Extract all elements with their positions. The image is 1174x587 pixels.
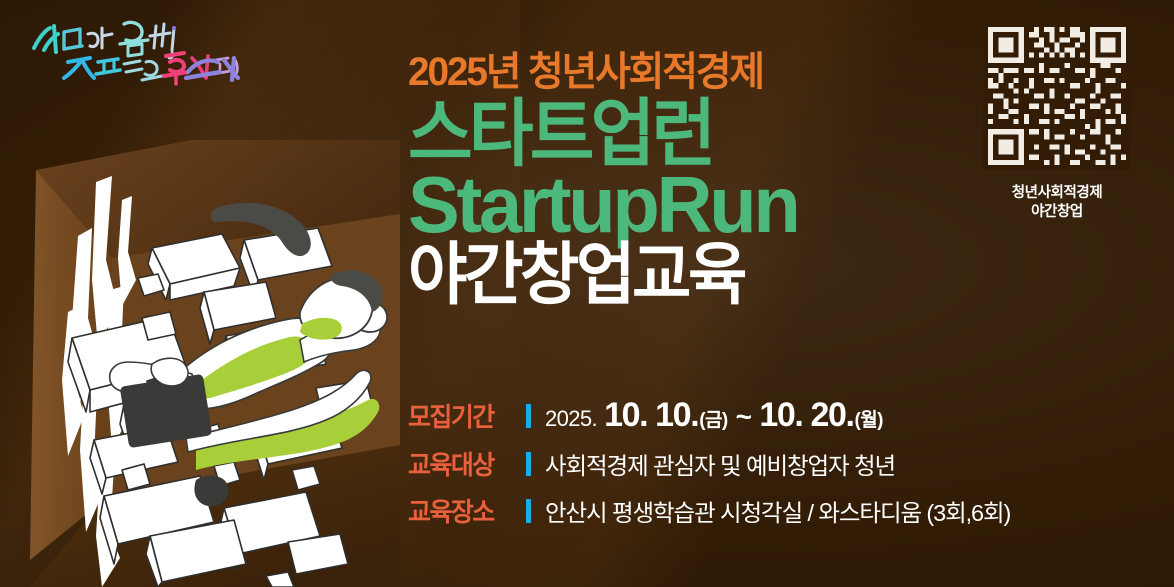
ansan-city-logo <box>24 12 244 92</box>
info-value-dates: 2025. 10. 10. (금) ~ 10. 20. (월) <box>545 396 1148 435</box>
headline-block: 2025년 청년사회적경제 스타트업런 StartupRun 야간창업교육 <box>408 52 1038 309</box>
headline-subtitle-korean: 야간창업교육 <box>408 241 1007 309</box>
info-value: 안산시 평생학습관 시청각실 / 와스타디움 (3회,6회) <box>545 494 1148 528</box>
info-value: 사회적경제 관심자 및 예비창업자 청년 <box>545 447 1148 481</box>
date-start: 10. 10. <box>604 396 698 435</box>
headline-title-english: StartupRun <box>408 165 1019 245</box>
info-label: 교육대상 <box>408 445 519 482</box>
info-separator-bar <box>526 404 531 428</box>
headline-kicker: 2025년 청년사회적경제 <box>408 52 1019 92</box>
info-row-recruitment-period: 모집기간 2025. 10. 10. (금) ~ 10. 20. (월) <box>408 396 1148 435</box>
info-row-target-audience: 교육대상 사회적경제 관심자 및 예비창업자 청년 <box>408 445 1148 482</box>
date-end-weekday: (월) <box>855 405 883 432</box>
date-start-weekday: (금) <box>699 405 727 432</box>
date-range-tilde: ~ <box>736 401 752 433</box>
info-list: 모집기간 2025. 10. 10. (금) ~ 10. 20. (월) 교육대… <box>408 396 1148 529</box>
info-separator-bar <box>526 499 531 523</box>
info-label: 교육장소 <box>408 492 519 529</box>
promo-banner: 청년사회적경제 야간창업 2025년 청년사회적경제 스타트업런 Startup… <box>0 0 1174 587</box>
info-row-venue: 교육장소 안산시 평생학습관 시청각실 / 와스타디움 (3회,6회) <box>408 492 1148 529</box>
date-year: 2025. <box>545 406 597 432</box>
date-end: 10. 20. <box>759 396 853 435</box>
info-label: 모집기간 <box>408 397 519 434</box>
info-separator-bar <box>526 452 531 476</box>
runner-illustration <box>0 140 400 587</box>
